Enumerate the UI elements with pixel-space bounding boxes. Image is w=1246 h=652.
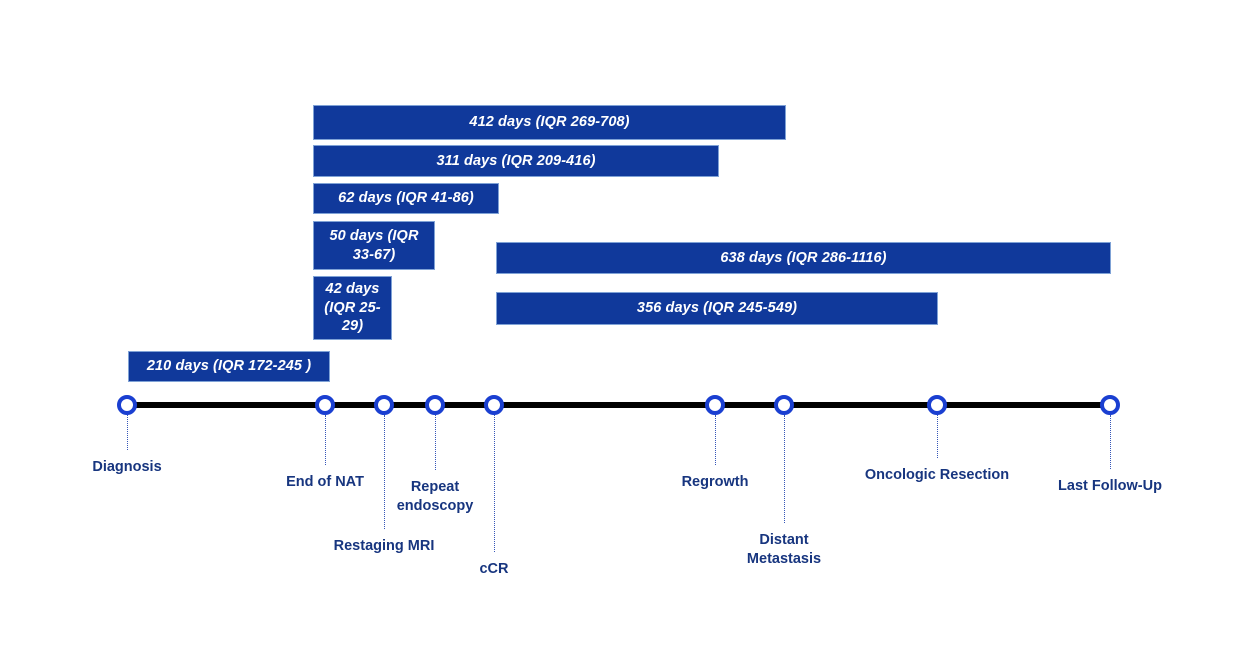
duration-bar-bar-311: 311 days (IQR 209-416) [313,145,719,177]
duration-bar-label: 50 days (IQR 33-67) [329,227,418,264]
timeline-node-end-of-nat[interactable] [315,395,335,415]
duration-bar-label: 356 days (IQR 245-549) [637,299,797,318]
duration-bar-bar-210: 210 days (IQR 172-245 ) [128,351,330,382]
timeline-figure: 412 days (IQR 269-708)311 days (IQR 209-… [0,0,1246,652]
event-label-distant-metastasis: Distant Metastasis [747,531,821,569]
duration-bar-bar-50: 50 days (IQR 33-67) [313,221,435,270]
timeline-node-last-follow-up[interactable] [1100,395,1120,415]
event-label-diagnosis: Diagnosis [92,458,161,477]
duration-bar-label: 210 days (IQR 172-245 ) [147,357,311,376]
timeline-node-regrowth[interactable] [705,395,725,415]
event-label-oncologic-resection: Oncologic Resection [865,466,1009,485]
duration-bar-label: 62 days (IQR 41-86) [338,189,474,208]
duration-bar-bar-42: 42 days (IQR 25- 29) [313,276,392,340]
duration-bar-bar-62: 62 days (IQR 41-86) [313,183,499,214]
duration-bar-label: 42 days (IQR 25- 29) [324,280,380,336]
timeline-node-repeat-endoscopy[interactable] [425,395,445,415]
duration-bar-bar-638: 638 days (IQR 286-1116) [496,242,1111,274]
leader-line-distant-metastasis [784,415,785,523]
duration-bar-label: 311 days (IQR 209-416) [436,152,595,171]
event-label-regrowth: Regrowth [682,473,749,492]
event-label-restaging-mri: Restaging MRI [334,537,435,556]
event-label-repeat-endoscopy: Repeat endoscopy [397,478,474,516]
timeline-node-distant-metastasis[interactable] [774,395,794,415]
leader-line-restaging-mri [384,415,385,529]
event-label-end-of-nat: End of NAT [286,473,364,492]
duration-bar-label: 412 days (IQR 269-708) [469,113,629,132]
leader-line-oncologic-resection [937,415,938,458]
timeline-node-ccr[interactable] [484,395,504,415]
leader-line-regrowth [715,415,716,465]
leader-line-ccr [494,415,495,552]
event-label-last-follow-up: Last Follow-Up [1058,477,1162,496]
timeline-axis [127,402,1110,408]
leader-line-diagnosis [127,415,128,450]
duration-bar-bar-412: 412 days (IQR 269-708) [313,105,786,140]
leader-line-end-of-nat [325,415,326,465]
leader-line-repeat-endoscopy [435,415,436,470]
event-label-ccr: cCR [479,560,508,579]
timeline-node-restaging-mri[interactable] [374,395,394,415]
duration-bar-bar-356: 356 days (IQR 245-549) [496,292,938,325]
leader-line-last-follow-up [1110,415,1111,469]
duration-bar-label: 638 days (IQR 286-1116) [720,249,886,268]
timeline-node-oncologic-resection[interactable] [927,395,947,415]
timeline-node-diagnosis[interactable] [117,395,137,415]
